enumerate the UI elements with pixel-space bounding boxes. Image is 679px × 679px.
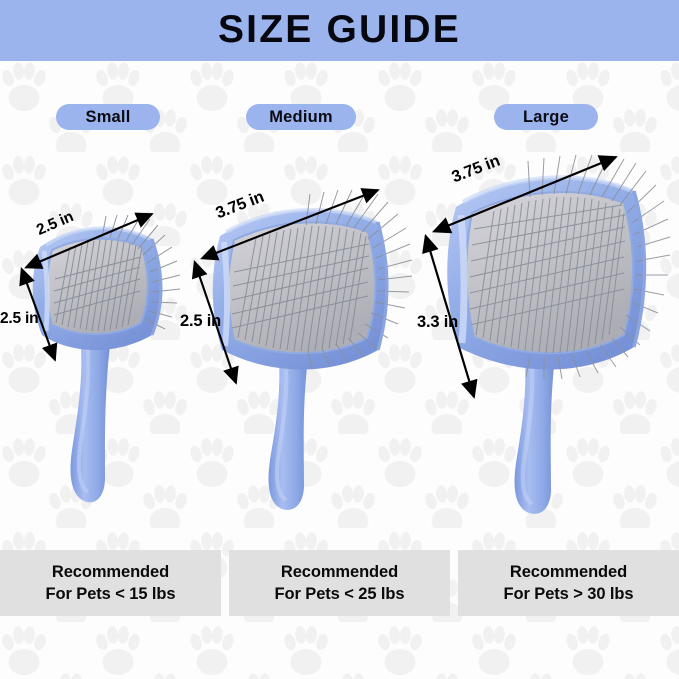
page-title: SIZE GUIDE [218, 10, 461, 49]
recommendation-line-1: Recommended [52, 563, 169, 582]
size-badge-medium: Medium [246, 104, 356, 130]
recommendation-box-medium: Recommended For Pets < 25 lbs [229, 550, 450, 616]
recommendation-box-large: Recommended For Pets > 30 lbs [458, 550, 679, 616]
height-dimension-label-medium: 2.5 in [180, 312, 221, 331]
size-badge-small: Small [56, 104, 160, 130]
size-guide-infographic: SIZE GUIDE Small Medium Large [0, 0, 679, 679]
height-dimension-label-small: 2.5 in [0, 310, 38, 328]
size-badge-large: Large [494, 104, 598, 130]
recommendation-line-2: For Pets < 15 lbs [46, 585, 176, 604]
brush-head-frame-small [33, 228, 161, 350]
recommendation-line-2: For Pets > 30 lbs [504, 585, 634, 604]
height-dimension-label-large: 3.3 in [417, 313, 458, 332]
recommendation-box-small: Recommended For Pets < 15 lbs [0, 550, 221, 616]
recommendation-row: Recommended For Pets < 15 lbs Recommende… [0, 550, 679, 616]
recommendation-line-1: Recommended [510, 563, 627, 582]
recommendation-line-2: For Pets < 25 lbs [275, 585, 405, 604]
header-band: SIZE GUIDE [0, 0, 679, 61]
brush-illustration-medium [172, 168, 432, 523]
recommendation-line-1: Recommended [281, 563, 398, 582]
